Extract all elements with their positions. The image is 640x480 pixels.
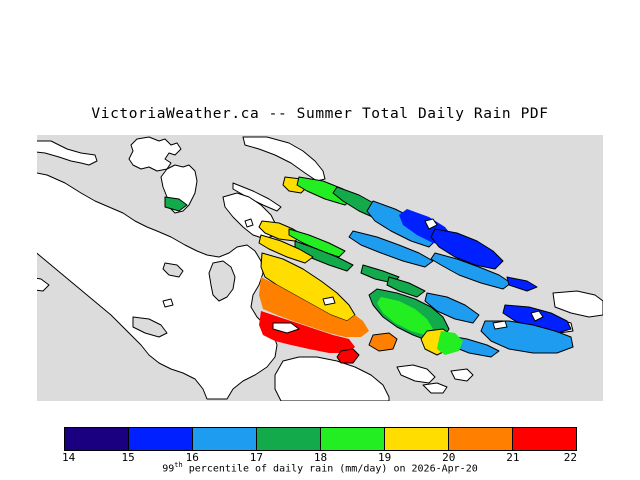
weather-map-figure: VictoriaWeather.ca -- Summer Total Daily… [0, 0, 640, 480]
landmass-south-shore [275, 357, 389, 401]
colorbar[interactable] [64, 427, 577, 451]
islet-dot-2 [163, 299, 173, 307]
landmass-far-east-white [553, 291, 603, 317]
landmass-south-islet-a [397, 365, 435, 383]
colorbar-band-15-16[interactable] [129, 428, 193, 450]
map-panel[interactable] [37, 135, 603, 401]
colorbar-bands[interactable] [64, 427, 577, 451]
caption-ordinal-suffix: th [174, 461, 182, 469]
colorbar-band-21-22[interactable] [513, 428, 576, 450]
landmass-south-islet-c [451, 369, 473, 381]
islet-saanich-notch [323, 297, 335, 305]
region-small-blue-islet[interactable] [507, 277, 537, 291]
colorbar-band-16-17[interactable] [193, 428, 257, 450]
islet-dot-1 [245, 219, 253, 227]
caption-rest: percentile of daily rain (mm/day) on 202… [183, 463, 478, 474]
map-svg[interactable] [37, 135, 603, 401]
colorbar-caption: 99th percentile of daily rain (mm/day) o… [0, 461, 640, 474]
page-title: VictoriaWeather.ca -- Summer Total Daily… [0, 106, 640, 122]
colorbar-band-14-15[interactable] [65, 428, 129, 450]
region-james-island-green[interactable] [437, 331, 463, 355]
landmass-north-peninsula [243, 137, 325, 181]
landmass-sliver-white-left [37, 277, 49, 291]
colorbar-band-19-20[interactable] [385, 428, 449, 450]
region-trial-islands-orange[interactable] [369, 333, 397, 351]
islet-san-juan-notch [493, 321, 507, 329]
caption-prefix: 99 [162, 463, 174, 474]
colorbar-band-20-21[interactable] [449, 428, 513, 450]
colorbar-band-17-18[interactable] [257, 428, 321, 450]
landmass-south-islet-b [423, 383, 447, 393]
colorbar-band-18-19[interactable] [321, 428, 385, 450]
landmass-northwest-arm [37, 141, 97, 165]
